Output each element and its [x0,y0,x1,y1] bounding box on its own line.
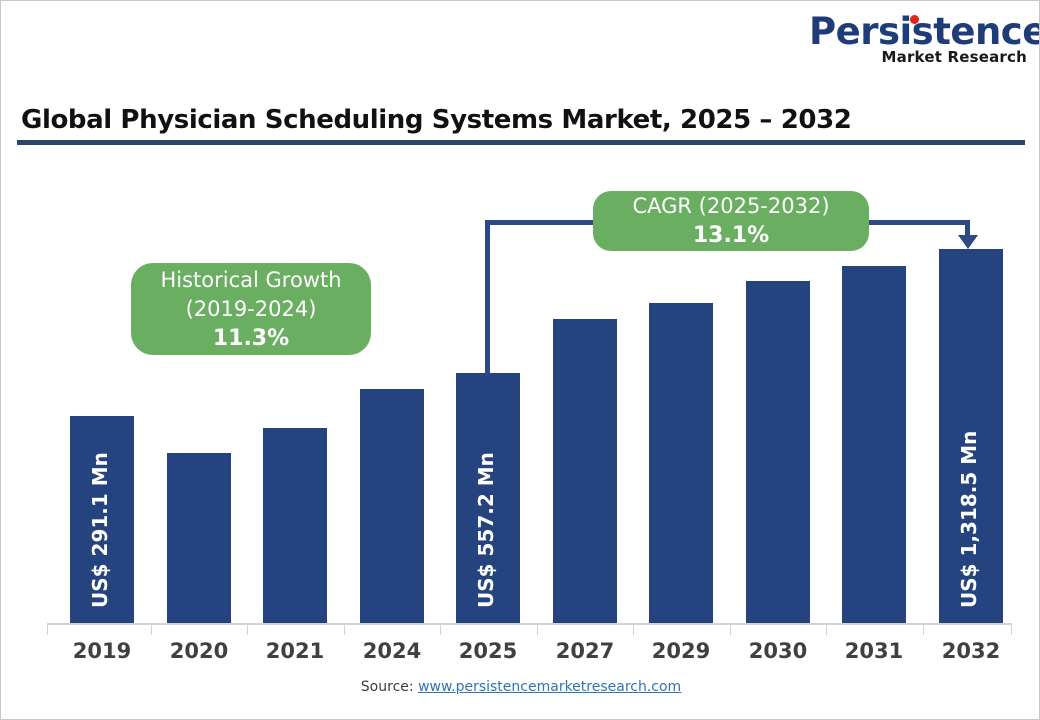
historical-growth-line1: Historical Growth [160,266,341,295]
x-axis-tick [440,625,441,635]
x-axis-label-2021: 2021 [252,639,338,663]
cagr-arrow-icon [958,235,978,249]
bar-2031 [842,266,906,624]
x-axis-label-2024: 2024 [349,639,435,663]
x-axis-tick [151,625,152,635]
x-axis-tick [730,625,731,635]
cagr-connector-horizontal-right [862,220,970,225]
x-axis-line [47,623,1012,625]
historical-growth-callout: Historical Growth (2019-2024) 11.3% [131,263,371,355]
bar-2029 [649,303,713,624]
source-link[interactable]: www.persistencemarketresearch.com [418,679,681,695]
x-axis-label-2025: 2025 [445,639,531,663]
x-axis-tick [1011,625,1012,635]
bar-value-label-2019: US$ 291.1 Mn [88,452,112,608]
x-axis-label-2031: 2031 [831,639,917,663]
bar-2027 [553,319,617,624]
x-axis-label-2030: 2030 [735,639,821,663]
x-axis-label-2019: 2019 [59,639,145,663]
x-axis-tick [47,625,48,635]
cagr-connector-horizontal-left [485,220,600,225]
cagr-line1: CAGR (2025-2032) [632,192,829,221]
x-axis-label-2020: 2020 [156,639,242,663]
bar-2030 [746,281,810,624]
plot-area: US$ 291.1 Mn US$ 557.2 Mn US$ 1,318.5 Mn… [1,1,1040,720]
x-axis-tick [537,625,538,635]
bar-2024 [360,389,424,624]
cagr-value: 13.1% [693,221,769,250]
chart-canvas: Persistence Market Research Global Physi… [0,0,1040,720]
x-axis-label-2032: 2032 [928,639,1014,663]
x-axis-tick [923,625,924,635]
historical-growth-line2: (2019-2024) [186,295,317,324]
x-axis-tick [826,625,827,635]
x-axis-tick [344,625,345,635]
bar-2021 [263,428,327,624]
bar-value-label-2032: US$ 1,318.5 Mn [957,431,981,608]
cagr-connector-vertical-left [485,220,490,375]
x-axis-tick [633,625,634,635]
source-prefix: Source: [361,679,418,695]
historical-growth-value: 11.3% [213,324,289,353]
bar-value-label-2025: US$ 557.2 Mn [474,452,498,608]
bar-2020 [167,453,231,624]
x-axis-tick [247,625,248,635]
source-note: Source: www.persistencemarketresearch.co… [1,679,1040,695]
cagr-callout: CAGR (2025-2032) 13.1% [593,191,869,251]
x-axis-label-2027: 2027 [542,639,628,663]
x-axis-label-2029: 2029 [638,639,724,663]
